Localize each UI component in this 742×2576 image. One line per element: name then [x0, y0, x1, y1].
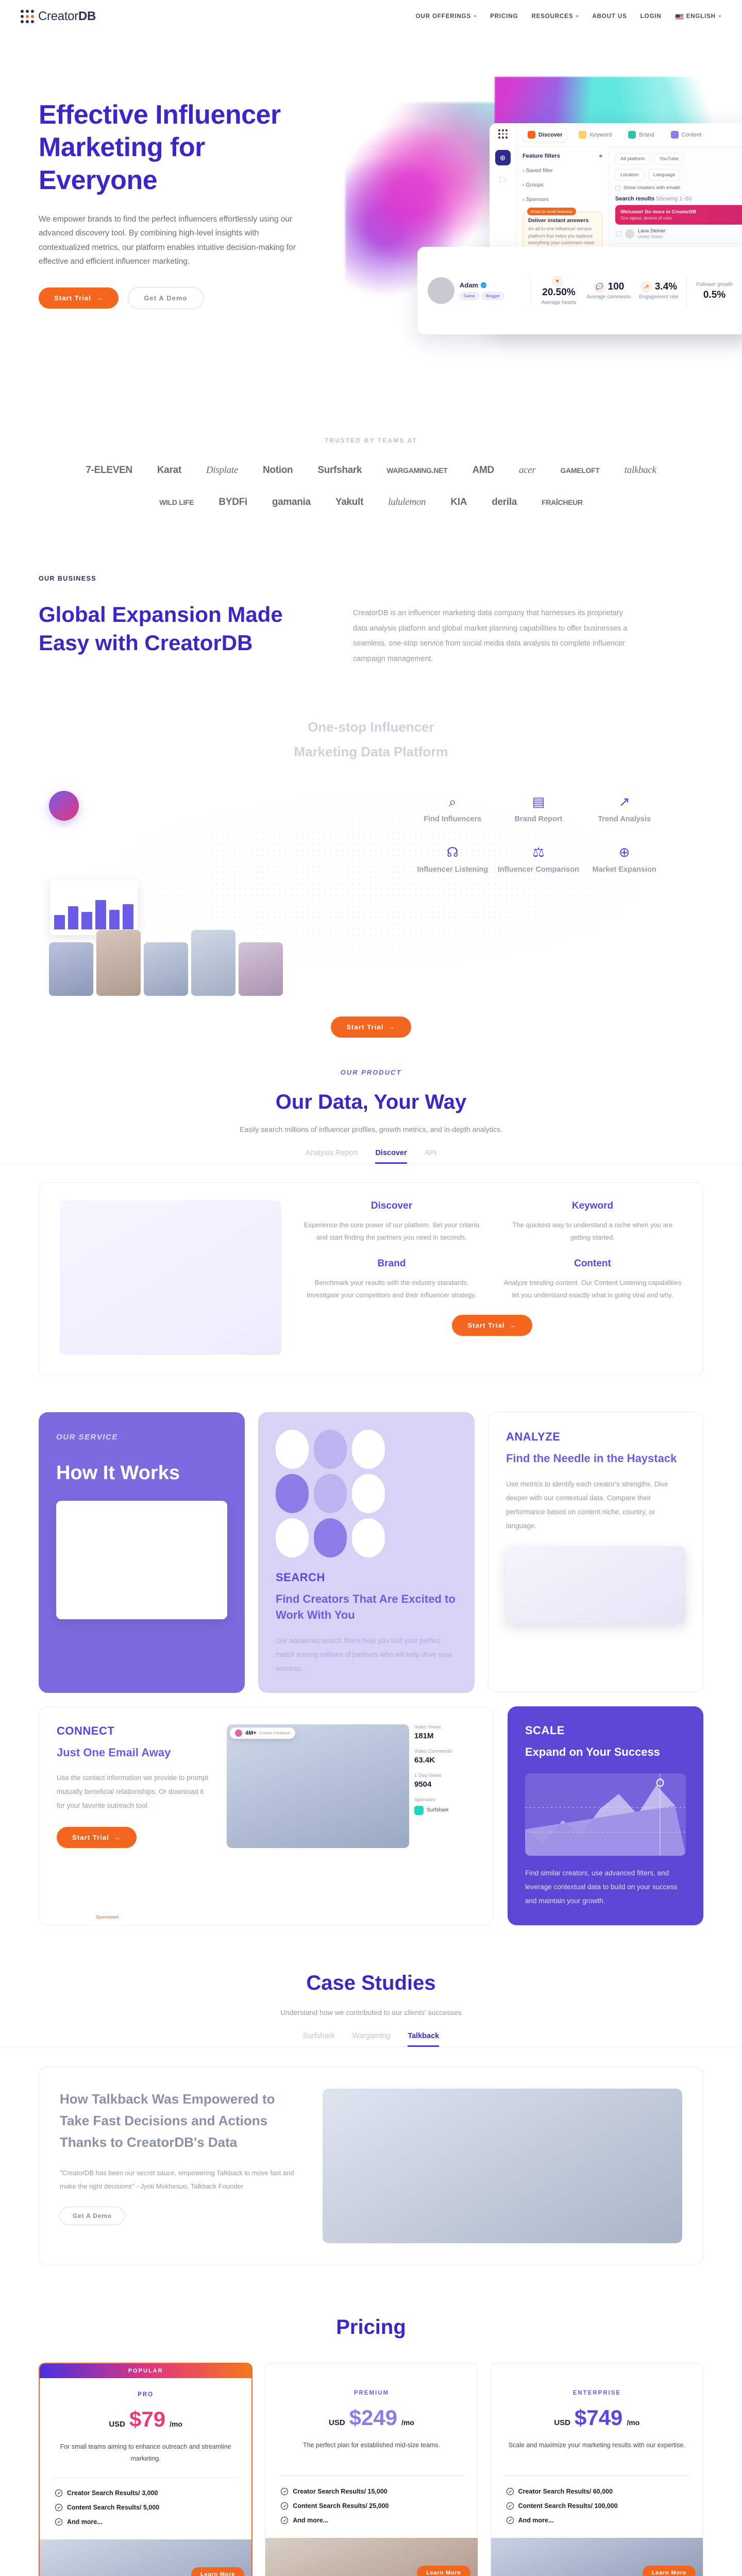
avatar-stack: [235, 1730, 242, 1737]
banner-title: Welcome! Do more in CreatorDB: [620, 209, 696, 215]
sponsor-name: Surfshark: [427, 1807, 449, 1813]
creator-profile-screenshot: [56, 1501, 227, 1619]
stat-video-views: Video Views181M: [414, 1724, 476, 1740]
plan-amount: $79: [129, 2407, 165, 2432]
tab-api[interactable]: API: [425, 1149, 436, 1164]
pill-location[interactable]: Location: [615, 169, 644, 181]
filter-label: Groups: [526, 182, 543, 188]
brand-logo: 7-ELEVEN: [86, 465, 132, 476]
stat-key: Sponsors: [414, 1797, 476, 1803]
case-studies-lead: Understand how we contributed to our cli…: [0, 2008, 742, 2016]
our-service-kicker: OUR SERVICE: [56, 1433, 227, 1442]
feature-influencer-comparison[interactable]: ⚖ Influencer Comparison: [496, 845, 582, 875]
arrow-right-icon: →: [96, 294, 103, 302]
feature-find-influencers[interactable]: ⌕ Find Influencers: [410, 795, 496, 825]
tabs-rule: [0, 1163, 742, 1164]
metric-number: 20.50%: [542, 287, 575, 298]
stat-key: Video Views: [414, 1724, 476, 1730]
divider: [531, 275, 531, 306]
tab-analysis-report[interactable]: Analysis Report: [306, 1149, 358, 1164]
metric-value: ♥20.50%: [536, 276, 581, 298]
profile-name-text: Adam: [460, 281, 478, 289]
photo-strip: [49, 930, 283, 996]
plan-pro: POPULAR PRO USD $79 /mo For small teams …: [39, 2363, 252, 2576]
product-lead: Easily search millions of influencer pro…: [0, 1125, 742, 1133]
folder-icon[interactable]: 🗀: [495, 173, 511, 188]
plan-period: /mo: [401, 2418, 414, 2427]
photo: [239, 942, 283, 996]
check-icon: ✓: [507, 2517, 514, 2524]
stat-video-comments: Video Comments63.4K: [414, 1749, 476, 1765]
main-nav: OUR OFFERINGS PRICING RESOURCES ABOUT US…: [416, 13, 721, 20]
tab-label: Brand: [639, 132, 654, 138]
brand-logo: derila: [492, 497, 517, 508]
nav-item-our-offerings[interactable]: OUR OFFERINGS: [416, 13, 477, 20]
decorative-bubble: [49, 791, 79, 821]
popular-badge: POPULAR: [40, 2364, 251, 2378]
metric-label: Engagement rate: [636, 294, 681, 300]
feature-label: And more...: [67, 2518, 103, 2526]
hero-subtitle: We empower brands to find the perfect in…: [39, 212, 309, 268]
cell-body: Experience the core power of our platfor…: [302, 1219, 481, 1244]
arrow-right-icon: →: [509, 1321, 516, 1329]
nav-label: RESOURCES: [531, 13, 573, 20]
button-label: Start Trial: [467, 1321, 504, 1329]
one-stop-heading: One-stop InfluencerMarketing Data Platfo…: [39, 715, 703, 764]
filter-row[interactable]: › Saved filter: [522, 167, 602, 174]
profile-block: Adam✓ Game Blogger: [428, 277, 526, 304]
product-title: Our Data, Your Way: [0, 1091, 742, 1114]
avatar: [625, 229, 634, 239]
button-label: Start Trial: [54, 294, 91, 302]
metric-value: ↗3.4%: [636, 281, 681, 293]
discover-icon: [528, 131, 535, 139]
how-it-works-row-1: OUR SERVICE How It Works SEARCH Find Cre…: [39, 1412, 703, 1693]
connect-body: Use the contact information we provide t…: [57, 1771, 211, 1812]
plan-feature: ✓Content Search Results/ 25,000: [281, 2499, 462, 2513]
filter-row[interactable]: › Groups: [522, 182, 602, 188]
metric-average-hearts: ♥20.50% Average hearts: [536, 276, 581, 306]
brand-logo: FRAÎCHEUR: [542, 498, 583, 506]
video-meta: $1 vs $10,000,000 Job! 2023-11-26 Publis…: [44, 1909, 121, 1920]
nav-label: OUR OFFERINGS: [416, 13, 471, 20]
plan-currency: USD: [554, 2418, 570, 2427]
app-logo-dots-icon: [498, 129, 508, 139]
tab-label: Keyword: [589, 132, 612, 138]
plan-feature: ✓Content Search Results/ 100,000: [507, 2499, 687, 2513]
brand-logo: Karat: [157, 465, 181, 476]
connect-label: CONNECT: [57, 1724, 211, 1738]
results-count: Showing 1~50: [656, 196, 692, 202]
nav-item-pricing[interactable]: PRICING: [490, 13, 518, 20]
product-grid: Discover Experience the core power of ou…: [302, 1200, 682, 1301]
feature-label: Creator Search Results/ 15,000: [293, 2488, 387, 2495]
cell-title: Brand: [302, 1258, 481, 1269]
how-it-works-title: How It Works: [56, 1459, 227, 1487]
card-search: SEARCH Find Creators That Are Excited to…: [258, 1412, 475, 1693]
plan-premium: PREMIUM USD $249 /mo The perfect plan fo…: [265, 2363, 478, 2576]
check-icon: ✓: [55, 2504, 62, 2511]
profile-tags: Game Blogger: [460, 292, 504, 300]
row-country: United States: [638, 234, 663, 239]
results-header: Search results Showing 1~50: [615, 196, 742, 202]
tab-talkback[interactable]: Talkback: [408, 2032, 439, 2047]
hero-title: Effective Influencer Marketing for Every…: [39, 99, 327, 197]
metric-average-comments: 💬100 Average comments: [586, 281, 631, 300]
stat-one-day-views: 1 Day Views9504: [414, 1773, 476, 1789]
tab-surfshark[interactable]: Surfshark: [303, 2032, 335, 2047]
product-feature-cells: Discover Experience the core power of ou…: [302, 1200, 682, 1355]
plan-enterprise: ENTERPRISE USD $749 /mo Scale and maximi…: [491, 2363, 703, 2576]
profile-name: Adam✓: [460, 281, 504, 289]
table-row[interactable]: Lana SteinerUnited States: [615, 225, 742, 244]
comment-icon: 💬: [594, 281, 605, 293]
scales-balance-icon: ⚖: [496, 845, 582, 859]
get-a-demo-button[interactable]: Get A Demo: [128, 287, 203, 309]
connect-media: 4M+ Creator Database $1 vs $10,000,000 J…: [227, 1724, 476, 1849]
case-study-quote: "CreatorDB has been our secret sauce, em…: [60, 2166, 302, 2193]
search-body: Our advanced search filters help you fin…: [276, 1634, 457, 1675]
product-tabs: Analysis Report Discover API: [0, 1149, 742, 1164]
ear-listening-icon: ☊: [410, 845, 496, 859]
site-header: CreatorDB OUR OFFERINGS PRICING RESOURCE…: [0, 0, 742, 33]
plan-features: ✓Creator Search Results/ 60,000 ✓Content…: [504, 2476, 689, 2538]
logo[interactable]: CreatorDB: [21, 9, 96, 24]
us-flag-icon: [675, 14, 684, 20]
plan-tier: PRO: [53, 2392, 238, 2398]
results-title: Search results: [615, 196, 654, 202]
plan-amount: $249: [349, 2405, 397, 2430]
hero-cta-group: Start Trial→ Get A Demo: [39, 287, 327, 309]
product-panel: Discover Experience the core power of ou…: [39, 1182, 703, 1376]
trend-up-icon: ↗: [640, 281, 652, 293]
brand-logo: gamania: [272, 497, 311, 508]
search-label: SEARCH: [276, 1571, 457, 1584]
learn-more-button[interactable]: Learn More: [643, 2566, 696, 2576]
brand-logo: lululemon: [388, 497, 426, 508]
pricing-title: Pricing: [0, 2316, 742, 2339]
cell-body: Benchmark your results with the industry…: [302, 1277, 481, 1301]
nav-item-about-us[interactable]: ABOUT US: [592, 13, 627, 20]
metric-number: 100: [608, 281, 625, 292]
welcome-banner[interactable]: Welcome! Do more in CreatorDB One signup…: [615, 205, 742, 225]
plan-feature: ✓And more...: [55, 2515, 236, 2529]
analyze-screenshot: [506, 1546, 685, 1623]
plan-feature: ✓Creator Search Results/ 3,000: [55, 2486, 236, 2500]
checkbox-label: Show creators with emails: [623, 185, 680, 191]
pill-language[interactable]: Language: [648, 169, 680, 181]
cell-body: Analyze trending content. Our Content Li…: [503, 1277, 682, 1301]
brand-logo: talkback: [625, 465, 656, 476]
cell-title: Keyword: [503, 1200, 682, 1212]
start-trial-button[interactable]: Start Trial→: [39, 287, 119, 309]
brand-logo: Yakult: [335, 497, 363, 508]
app-tab-keyword[interactable]: Keyword: [575, 128, 616, 141]
analyze-label: ANALYZE: [506, 1430, 685, 1444]
filter-pill-row: Location Language: [615, 169, 742, 181]
feature-label: Trend Analysis: [581, 815, 667, 825]
feature-market-expansion[interactable]: ⊕ Market Expansion: [581, 845, 667, 875]
card-analyze: ANALYZE Find the Needle in the Haystack …: [488, 1412, 703, 1693]
keyword-icon: [579, 131, 586, 139]
case-studies-section: Case Studies Understand how we contribut…: [0, 1972, 742, 2264]
plan-currency: USD: [329, 2418, 345, 2427]
brand-icon: [628, 131, 636, 139]
check-icon: ✓: [281, 2502, 288, 2510]
growth-value: 0.5%: [692, 290, 737, 301]
plan-description: For small teams aiming to enhance outrea…: [53, 2441, 238, 2468]
logo-text-light: Creator: [38, 9, 78, 23]
globe-icon[interactable]: ⊕: [495, 150, 511, 165]
pricing-section: Pricing POPULAR PRO USD $79 /mo For smal…: [0, 2316, 742, 2576]
app-tab-discover[interactable]: Discover: [524, 128, 566, 141]
metric-label: Average comments: [586, 294, 631, 300]
plan-currency: USD: [109, 2420, 125, 2429]
feature-label: And more...: [518, 2517, 554, 2524]
case-study-tabs: Surfshark Wargaming Talkback: [0, 2032, 742, 2047]
heart-icon: ♥: [552, 276, 563, 287]
filter-label: Sponsors: [526, 196, 548, 202]
scale-label: SCALE: [525, 1724, 686, 1737]
blob-decoration: [276, 1430, 457, 1557]
case-study-copy: How Talkback Was Empowered to Take Fast …: [60, 2089, 302, 2243]
feature-label: Market Expansion: [581, 865, 667, 875]
plan-period: /mo: [627, 2418, 639, 2427]
filter-label: Saved filter: [526, 167, 553, 174]
feature-label: Brand Report: [496, 815, 582, 825]
search-icon: ⌕: [410, 795, 496, 808]
promo-badge: Great for small business: [527, 208, 576, 215]
check-icon: ✓: [281, 2488, 288, 2495]
one-stop-line-2: Marketing Data Platform: [294, 744, 448, 759]
creator-db-label: Creator Database: [260, 1731, 290, 1735]
podcast-photo: 4M+ Creator Database $1 vs $10,000,000 J…: [227, 1724, 409, 1849]
our-product-eyebrow: OUR PRODUCT: [0, 1069, 742, 1076]
brand-logo: Displate: [206, 465, 238, 476]
photo: [144, 942, 188, 996]
plan-feature: ✓And more...: [281, 2513, 462, 2528]
arrow-right-icon: →: [114, 1834, 121, 1841]
area-chart-svg: [525, 1773, 686, 1856]
feature-label: Influencer Listening: [410, 865, 496, 875]
analyze-heading: Find the Needle in the Haystack: [506, 1451, 685, 1467]
business-title: Global Expansion Made Easy with CreatorD…: [39, 601, 307, 667]
cell-body: The quickest way to understand a niche w…: [503, 1219, 682, 1244]
platform-pill-row: All platform YouTube: [615, 153, 742, 165]
brand-logo: WARGAMING.NET: [386, 466, 447, 474]
check-icon: ✓: [281, 2517, 288, 2524]
video-stats: Video Views181M Video Comments63.4K 1 Da…: [414, 1724, 476, 1849]
growth-label: Follower growth: [692, 282, 737, 287]
checkbox-icon[interactable]: [615, 185, 620, 191]
start-trial-button[interactable]: Start Trial→: [331, 1016, 411, 1038]
nav-item-language[interactable]: ENGLISH: [675, 13, 721, 20]
stat-value: 9504: [414, 1780, 476, 1789]
our-product-section: OUR PRODUCT Our Data, Your Way Easily se…: [0, 1069, 742, 1376]
tab-label: Content: [682, 132, 702, 138]
stat-value: 63.4K: [414, 1756, 476, 1765]
logo-row-2: WILD LIFE BYDFi gamania Yakult lululemon…: [0, 497, 742, 508]
nav-label: ABOUT US: [592, 13, 627, 20]
app-tab-brand[interactable]: Brand: [624, 128, 658, 141]
feature-brand-report[interactable]: ▤ Brand Report: [496, 795, 582, 825]
hero-section: Effective Influencer Marketing for Every…: [0, 33, 742, 425]
show-emails-checkbox-row[interactable]: Show creators with emails: [615, 185, 742, 191]
brand-logo: Notion: [263, 465, 293, 476]
plan-feature: ✓Creator Search Results/ 60,000: [507, 2484, 687, 2499]
stat-sponsors: Sponsors Surfshark: [414, 1797, 476, 1815]
sponsored-badge: Sponsored: [93, 1914, 122, 1920]
brand-logo: AMD: [473, 465, 494, 476]
learn-more-button[interactable]: Learn More: [191, 2567, 244, 2576]
chevron-down-icon: [576, 15, 579, 18]
mini-chart-caption: [54, 884, 133, 888]
check-icon: ✓: [55, 2489, 62, 2497]
metric-label: Average hearts: [536, 300, 581, 306]
metric-follower-growth: Follower growth 0.5%: [692, 280, 737, 301]
world-map-feature-area: ⌕ Find Influencers ▤ Brand Report ↗ Tren…: [39, 785, 703, 1001]
connect-inner: CONNECT Just One Email Away Use the cont…: [57, 1724, 476, 1849]
influencer-stat-card: Adam✓ Game Blogger ♥20.50% Average heart…: [417, 247, 742, 334]
logo-dots-icon: [21, 10, 34, 23]
plan-feature: ✓Creator Search Results/ 15,000: [281, 2484, 462, 2499]
page-root: CreatorDB OUR OFFERINGS PRICING RESOURCE…: [0, 0, 742, 2576]
promo-title: Deliver instant answers: [528, 217, 597, 224]
card-connect: CONNECT Just One Email Away Use the cont…: [39, 1706, 494, 1926]
app-tab-bar: Discover Keyword Brand Content: [516, 123, 742, 147]
feature-label: Content Search Results/ 25,000: [293, 2502, 389, 2510]
connect-heading: Just One Email Away: [57, 1745, 211, 1761]
brand-logo: BYDFi: [218, 497, 247, 508]
plan-inner: PRO USD $79 /mo For small teams aiming t…: [40, 2378, 251, 2539]
cell-brand: Brand Benchmark your results with the in…: [302, 1258, 481, 1301]
plan-tier: ENTERPRISE: [504, 2390, 689, 2396]
metric-engagement-rate: ↗3.4% Engagement rate: [636, 281, 681, 300]
mini-bar-chart: [54, 893, 133, 929]
check-icon: ✓: [55, 2518, 62, 2526]
plan-amount: $749: [575, 2405, 622, 2430]
filters-title-text: Feature filters: [522, 153, 560, 159]
scale-area-chart: [525, 1773, 686, 1856]
plan-inner: ENTERPRISE USD $749 /mo Scale and maximi…: [491, 2363, 703, 2538]
nav-label: LOGIN: [640, 13, 662, 20]
plan-description: Scale and maximize your marketing result…: [504, 2439, 689, 2466]
pill-youtube[interactable]: YouTube: [654, 153, 684, 165]
tab-label: Discover: [538, 132, 562, 138]
feature-grid: ⌕ Find Influencers ▤ Brand Report ↗ Tren…: [410, 795, 667, 875]
one-stop-line-1: One-stop Influencer: [308, 719, 434, 735]
filter-row[interactable]: › Sponsors: [522, 196, 602, 202]
app-tab-content[interactable]: Content: [667, 128, 706, 141]
case-study-headline: How Talkback Was Empowered to Take Fast …: [60, 2089, 302, 2153]
tab-wargaming[interactable]: Wargaming: [352, 2032, 391, 2047]
trend-chart-icon: ↗: [581, 795, 667, 808]
row-name: Lana Steiner: [638, 228, 666, 234]
photo: [191, 930, 235, 996]
nav-item-login[interactable]: LOGIN: [640, 13, 662, 20]
stat-key: Video Comments: [414, 1749, 476, 1754]
video-title: $1 vs $10,000,000 Job!: [44, 1909, 93, 1914]
button-label: Start Trial: [346, 1023, 383, 1031]
check-icon: ✓: [507, 2502, 514, 2510]
feature-trend-analysis[interactable]: ↗ Trend Analysis: [581, 795, 667, 825]
logo-row-1: 7-ELEVEN Karat Displate Notion Surfshark…: [0, 465, 742, 476]
divider: [686, 275, 687, 306]
brand-logo: WILD LIFE: [159, 498, 194, 506]
plan-inner: PREMIUM USD $249 /mo The perfect plan fo…: [265, 2363, 477, 2538]
case-studies-title: Case Studies: [0, 1972, 742, 1995]
creator-db-count: 4M+: [245, 1730, 257, 1736]
plan-feature: ✓And more...: [507, 2513, 687, 2528]
get-a-demo-button[interactable]: Get A Demo: [60, 2207, 125, 2225]
plan-features: ✓Creator Search Results/ 3,000 ✓Content …: [53, 2478, 238, 2539]
scale-body: Find similar creators, use advanced filt…: [525, 1866, 686, 1908]
plan-tier: PREMIUM: [279, 2390, 464, 2396]
learn-more-button[interactable]: Learn More: [417, 2566, 470, 2576]
tab-discover[interactable]: Discover: [375, 1149, 407, 1164]
metric-value: 💬100: [586, 281, 631, 293]
feature-label: And more...: [293, 2517, 328, 2524]
avatar: [428, 277, 454, 304]
pricing-plans: POPULAR PRO USD $79 /mo For small teams …: [0, 2363, 742, 2576]
check-icon: ✓: [507, 2488, 514, 2495]
card-how-it-works: OUR SERVICE How It Works: [39, 1412, 245, 1693]
surfshark-icon: [414, 1806, 424, 1815]
plan-period: /mo: [170, 2420, 182, 2428]
nav-item-resources[interactable]: RESOURCES: [531, 13, 579, 20]
stat-key: 1 Day Views: [414, 1773, 476, 1778]
arrow-right-icon: →: [388, 1023, 395, 1031]
business-body: CreatorDB is an influencer marketing dat…: [353, 606, 631, 667]
business-columns: Global Expansion Made Easy with CreatorD…: [39, 601, 703, 667]
feature-label: Find Influencers: [410, 815, 496, 825]
plan-photo: Learn More: [491, 2538, 703, 2576]
case-study-photo: [323, 2089, 682, 2243]
feature-influencer-listening[interactable]: ☊ Influencer Listening: [410, 845, 496, 875]
feature-label: Creator Search Results/ 60,000: [518, 2488, 613, 2495]
plan-description: The perfect plan for established mid-siz…: [279, 2439, 464, 2466]
logo-text: CreatorDB: [38, 9, 96, 24]
cell-title: Discover: [302, 1200, 481, 1212]
start-trial-button[interactable]: Start Trial→: [452, 1315, 532, 1336]
checkbox-icon[interactable]: [616, 231, 621, 236]
content-icon: [671, 131, 679, 139]
cell-content: Content Analyze trending content. Our Co…: [503, 1258, 682, 1301]
photo: [49, 942, 93, 996]
cell-discover: Discover Experience the core power of ou…: [302, 1200, 481, 1244]
collapse-icon[interactable]: «: [599, 153, 602, 159]
stat-value: 181M: [414, 1732, 476, 1740]
trusted-by-section: TRUSTED BY TEAMS AT 7-ELEVEN Karat Displ…: [0, 425, 742, 513]
metric-number: 3.4%: [655, 281, 677, 292]
mini-chart-card: [50, 879, 138, 935]
plan-features: ✓Creator Search Results/ 15,000 ✓Content…: [279, 2476, 464, 2538]
document-report-icon: ▤: [496, 795, 582, 808]
connect-copy: CONNECT Just One Email Away Use the cont…: [57, 1724, 211, 1849]
video-date: 2023-11-26 Published: [44, 1914, 89, 1920]
brand-logo: Surfshark: [317, 465, 362, 476]
feature-label: Content Search Results/ 100,000: [518, 2502, 618, 2510]
our-business-eyebrow: OUR BUSINESS: [39, 575, 703, 582]
start-trial-button[interactable]: Start Trial→: [57, 1827, 137, 1848]
pill-all-platform[interactable]: All platform: [615, 153, 650, 165]
nav-label: PRICING: [490, 13, 518, 20]
brand-logo: GAMELOFT: [561, 466, 600, 474]
how-it-works-row-2: CONNECT Just One Email Away Use the cont…: [39, 1706, 703, 1926]
product-screenshot: [60, 1200, 281, 1355]
analyze-body: Use metrics to identify each creator's s…: [506, 1477, 685, 1533]
brand-logo: KIA: [450, 497, 467, 508]
